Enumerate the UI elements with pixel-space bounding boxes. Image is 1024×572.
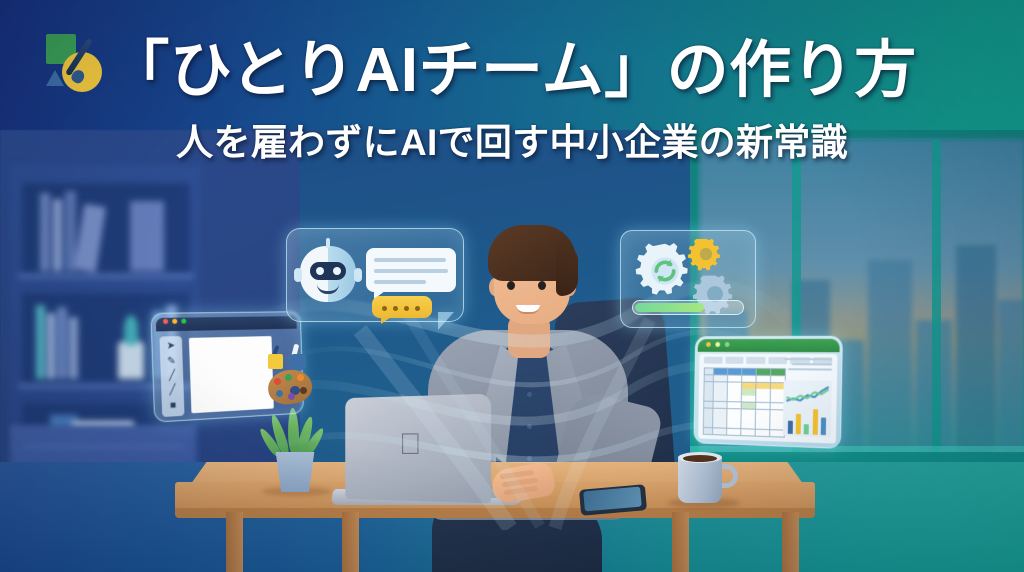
grid-cell[interactable] [770, 430, 784, 437]
row-header[interactable] [704, 415, 712, 421]
desk-leg [782, 512, 799, 572]
cursor-icon[interactable]: ➤ [167, 342, 176, 353]
chat-message-bubble [366, 248, 456, 292]
grid-cell[interactable] [742, 369, 756, 375]
grid-cell[interactable] [756, 382, 770, 388]
grid-cell[interactable] [713, 428, 727, 435]
desk-leg [342, 512, 359, 572]
spreadsheet-bar-chart [783, 403, 832, 437]
robot-eye-right [333, 267, 341, 275]
eye-right [538, 281, 546, 290]
grid-cell[interactable] [727, 422, 741, 429]
grid-cell[interactable] [741, 409, 755, 416]
traffic-light-close[interactable] [163, 318, 168, 323]
desk-leg [672, 512, 689, 572]
headline-block: 「ひとりAIチーム」の作り方 人を雇わずにAIで回す中小企業の新常識 [0, 38, 1024, 166]
spreadsheet-body [698, 354, 837, 444]
grid-cell[interactable] [756, 369, 770, 375]
grid-cell[interactable] [770, 396, 784, 403]
grid-cell[interactable] [770, 383, 784, 390]
grid-cell[interactable] [741, 429, 755, 436]
grid-cell[interactable] [727, 375, 741, 381]
grid-cell[interactable] [741, 396, 755, 402]
progress-bar-fill [635, 303, 704, 312]
grid-cell[interactable] [713, 375, 727, 381]
chart-bar [813, 409, 818, 435]
grid-cell[interactable] [770, 423, 784, 430]
grid-cell[interactable] [728, 369, 742, 375]
pencil-icon[interactable]: ✎ [167, 356, 176, 367]
robot-antenna-icon [326, 238, 330, 248]
grid-cell[interactable] [771, 376, 785, 382]
grid-cell[interactable] [713, 382, 727, 388]
pen-icon[interactable]: ╱ [169, 371, 175, 382]
robot-ear-left [294, 268, 302, 282]
grid-cell[interactable] [741, 389, 755, 395]
grid-cell[interactable] [756, 389, 770, 396]
grid-cell[interactable] [755, 423, 769, 430]
row-header[interactable] [704, 401, 712, 407]
yellow-gear-icon [688, 236, 724, 272]
grid-cell[interactable] [727, 415, 741, 422]
hero-banner:  [0, 0, 1024, 572]
grid-cell[interactable] [756, 396, 770, 403]
eraser-icon[interactable]: ■ [170, 401, 176, 412]
apple-logo-icon:  [399, 430, 425, 460]
grid-cell[interactable] [770, 416, 784, 423]
eye-left [507, 281, 515, 290]
row-header[interactable] [705, 368, 713, 374]
grid-cell[interactable] [727, 428, 741, 435]
person-hair-side [556, 246, 578, 296]
grid-cell[interactable] [770, 389, 784, 396]
design-toolbar[interactable]: ➤ ✎ ╱ ╱ ■ [159, 336, 184, 417]
chart-bar [796, 413, 801, 434]
robot-ear-right [354, 268, 362, 282]
chart-bar [787, 420, 792, 434]
ruler-icon[interactable]: ╱ [169, 386, 175, 397]
robot-eye-left [316, 267, 324, 275]
row-header[interactable] [705, 375, 713, 381]
coffee-surface [683, 455, 717, 462]
spreadsheet-grid[interactable] [703, 367, 786, 437]
desk-edge [175, 508, 815, 518]
window-mullion [932, 140, 941, 460]
color-swatch-blue[interactable] [290, 354, 306, 370]
grid-cell[interactable] [713, 388, 727, 394]
grid-cell[interactable] [770, 410, 784, 417]
spreadsheet-window[interactable] [693, 336, 842, 449]
chart-bar [804, 424, 809, 435]
row-header[interactable] [704, 382, 712, 388]
grid-cell[interactable] [727, 389, 741, 395]
grid-cell[interactable] [742, 382, 756, 388]
chart-bar [821, 417, 826, 435]
grid-cell[interactable] [741, 402, 755, 409]
grid-cell[interactable] [770, 403, 784, 410]
row-header[interactable] [704, 408, 712, 414]
design-canvas[interactable] [189, 336, 274, 413]
grid-cell[interactable] [741, 416, 755, 423]
page-title: 「ひとりAIチーム」の作り方 [0, 38, 1024, 104]
grid-cell[interactable] [756, 403, 770, 410]
grid-cell[interactable] [713, 402, 727, 408]
color-swatch-yellow[interactable] [268, 354, 283, 369]
row-header[interactable] [704, 395, 712, 401]
grid-cell[interactable] [713, 408, 727, 414]
grid-cell[interactable] [742, 375, 756, 381]
desk-leg [226, 512, 243, 572]
row-header[interactable] [704, 421, 712, 427]
grid-cell[interactable] [741, 422, 755, 429]
traffic-light-zoom[interactable] [181, 318, 186, 323]
sync-gear-icon [634, 240, 696, 302]
traffic-light-close[interactable] [706, 342, 711, 347]
traffic-light-minimize[interactable] [715, 342, 720, 347]
grid-cell[interactable] [713, 415, 727, 422]
typing-indicator-bubble [372, 296, 432, 318]
grid-cell[interactable] [727, 382, 741, 388]
grid-cell[interactable] [755, 416, 769, 423]
grid-cell[interactable] [755, 429, 769, 436]
grid-cell[interactable] [713, 421, 727, 428]
traffic-light-minimize[interactable] [172, 318, 177, 323]
row-header[interactable] [704, 428, 712, 434]
grid-cell[interactable] [727, 395, 741, 401]
grid-cell[interactable] [713, 395, 727, 401]
grid-cell[interactable] [771, 369, 785, 375]
grid-cell[interactable] [755, 409, 769, 416]
grid-cell[interactable] [756, 376, 770, 382]
row-header[interactable] [704, 388, 712, 394]
grid-cell[interactable] [727, 402, 741, 408]
design-window-titlebar [156, 316, 297, 331]
grid-cell[interactable] [727, 409, 741, 416]
page-subtitle: 人を雇わずにAIで回す中小企業の新常識 [0, 112, 1024, 166]
grid-cell[interactable] [714, 368, 728, 374]
traffic-light-zoom[interactable] [725, 342, 730, 347]
chat-bubble-tail [438, 312, 454, 330]
